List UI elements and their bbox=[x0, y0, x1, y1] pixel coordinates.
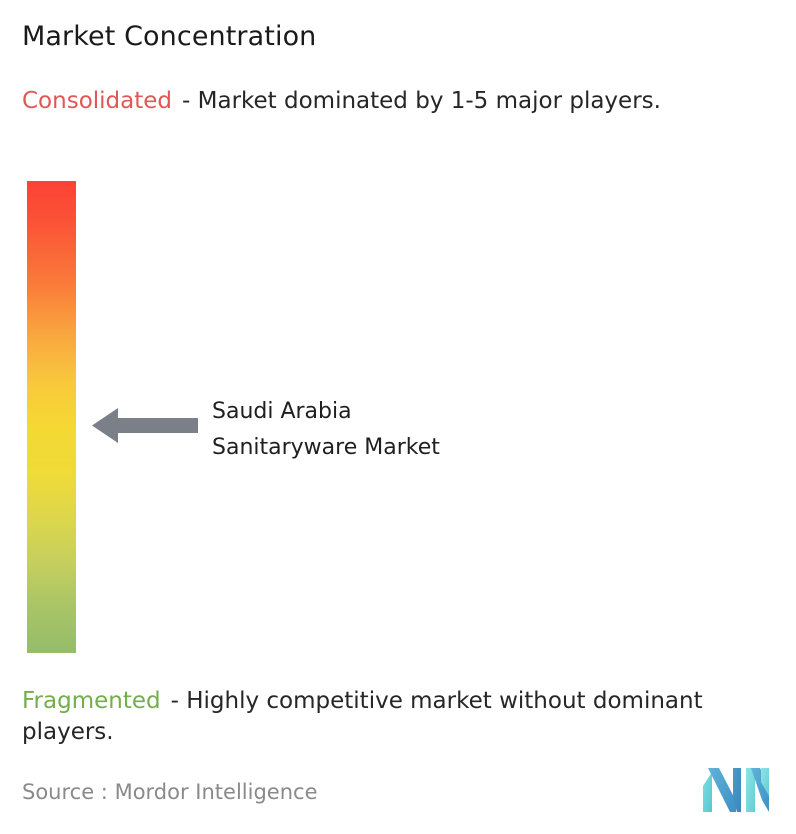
concentration-gradient-bar bbox=[27, 181, 76, 653]
market-position-arrow bbox=[92, 404, 198, 447]
page-title: Market Concentration bbox=[22, 20, 316, 54]
market-label-line-1: Saudi Arabia bbox=[212, 394, 612, 430]
legend-consolidated-description: - Market dominated by 1-5 major players. bbox=[182, 88, 661, 114]
source-attribution: Source : Mordor Intelligence bbox=[22, 778, 317, 806]
mordor-intelligence-logo-icon bbox=[703, 766, 769, 813]
legend-fragmented-keyword: Fragmented bbox=[22, 688, 161, 714]
legend-consolidated: Consolidated- Market dominated by 1-5 ma… bbox=[22, 86, 774, 117]
chart-canvas: Market Concentration Consolidated- Marke… bbox=[0, 0, 796, 834]
source-label: Source : bbox=[22, 780, 108, 804]
market-position-label: Saudi Arabia Sanitaryware Market bbox=[212, 394, 612, 466]
legend-consolidated-keyword: Consolidated bbox=[22, 88, 172, 114]
source-value: Mordor Intelligence bbox=[115, 780, 318, 804]
market-label-line-2: Sanitaryware Market bbox=[212, 430, 612, 466]
legend-fragmented: Fragmented- Highly competitive market wi… bbox=[22, 686, 784, 748]
